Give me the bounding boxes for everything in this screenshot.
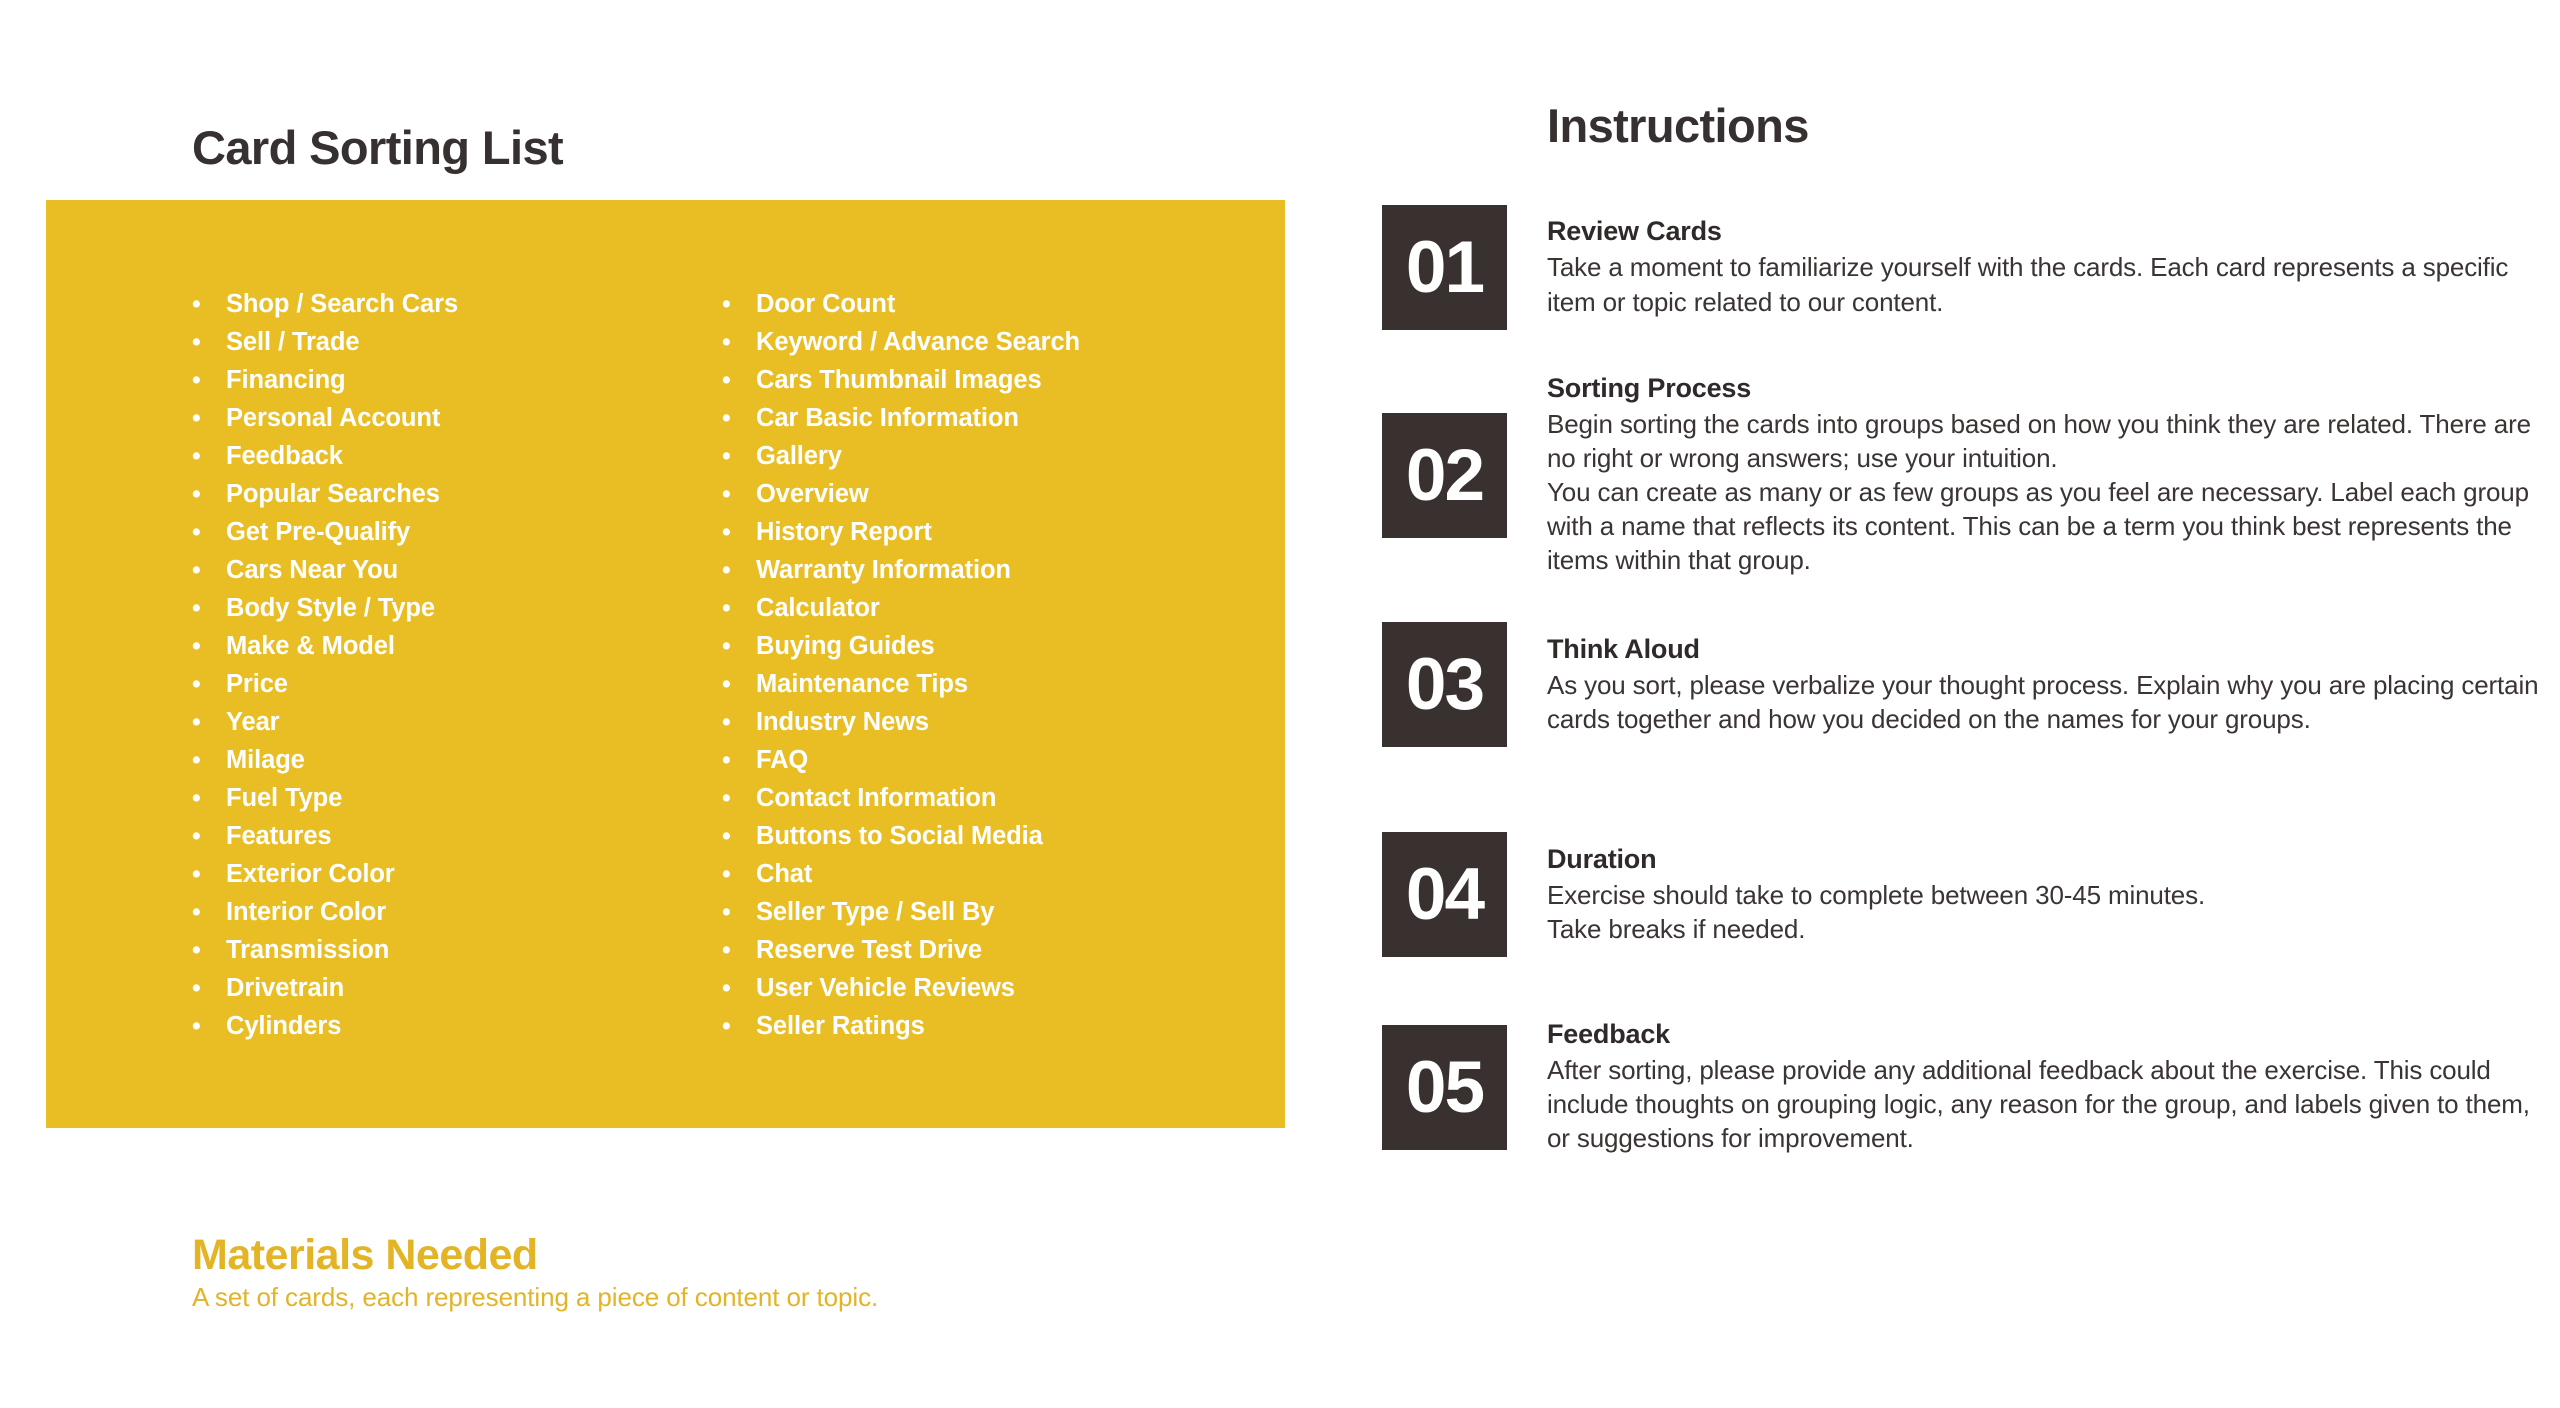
card-label: Feedback [226, 442, 343, 471]
card-label: Financing [226, 366, 346, 395]
step-heading: Feedback [1547, 1019, 2552, 1050]
step-number-badge: 05 [1382, 1025, 1507, 1150]
list-item[interactable]: •Chat [722, 860, 1252, 898]
list-item[interactable]: •Body Style / Type [192, 594, 722, 632]
list-item[interactable]: •Get Pre-Qualify [192, 518, 722, 556]
bullet-icon: • [722, 786, 756, 811]
bullet-icon: • [722, 444, 756, 469]
bullet-icon: • [192, 900, 226, 925]
bullet-icon: • [722, 900, 756, 925]
card-label: Personal Account [226, 404, 440, 433]
step-description: After sorting, please provide any additi… [1547, 1053, 2552, 1155]
bullet-icon: • [192, 558, 226, 583]
bullet-icon: • [192, 710, 226, 735]
instructions-section: Instructions 01 Review Cards Take a mome… [1340, 0, 2560, 1408]
list-item[interactable]: •Cars Near You [192, 556, 722, 594]
step-description: Take a moment to familiarize yourself wi… [1547, 250, 2552, 318]
instructions-title: Instructions [1547, 98, 1809, 153]
list-item[interactable]: •Shop / Search Cars [192, 290, 722, 328]
card-label: Transmission [226, 936, 389, 965]
bullet-icon: • [722, 330, 756, 355]
card-label: Cylinders [226, 1012, 341, 1041]
card-list-column-2: •Door Count •Keyword / Advance Search •C… [722, 290, 1252, 1050]
instruction-steps-list: 01 Review Cards Take a moment to familia… [1382, 205, 2552, 1155]
card-label: Buying Guides [756, 632, 935, 661]
list-item[interactable]: •Seller Type / Sell By [722, 898, 1252, 936]
list-item[interactable]: •Year [192, 708, 722, 746]
card-label: Reserve Test Drive [756, 936, 982, 965]
bullet-icon: • [192, 824, 226, 849]
step-content: Feedback After sorting, please provide a… [1507, 1019, 2552, 1155]
card-label: Warranty Information [756, 556, 1011, 585]
bullet-icon: • [192, 292, 226, 317]
bullet-icon: • [192, 634, 226, 659]
card-label: History Report [756, 518, 932, 547]
card-label: Maintenance Tips [756, 670, 968, 699]
card-label: Seller Ratings [756, 1012, 925, 1041]
step-number-badge: 01 [1382, 205, 1507, 330]
bullet-icon: • [722, 862, 756, 887]
list-item[interactable]: •Buttons to Social Media [722, 822, 1252, 860]
bullet-icon: • [192, 444, 226, 469]
list-item[interactable]: •Features [192, 822, 722, 860]
step-content: Duration Exercise should take to complet… [1507, 844, 2552, 946]
card-label: Body Style / Type [226, 594, 435, 623]
card-label: Cars Thumbnail Images [756, 366, 1042, 395]
bullet-icon: • [192, 938, 226, 963]
step-heading: Duration [1547, 844, 2552, 875]
card-label: Cars Near You [226, 556, 398, 585]
list-item[interactable]: •Reserve Test Drive [722, 936, 1252, 974]
bullet-icon: • [722, 710, 756, 735]
list-item[interactable]: •FAQ [722, 746, 1252, 784]
step-heading: Review Cards [1547, 216, 2552, 247]
list-item[interactable]: •Transmission [192, 936, 722, 974]
card-label: Milage [226, 746, 305, 775]
bullet-icon: • [192, 748, 226, 773]
card-list-right: •Door Count •Keyword / Advance Search •C… [722, 290, 1252, 1050]
list-item[interactable]: •Exterior Color [192, 860, 722, 898]
bullet-icon: • [192, 1014, 226, 1039]
card-label: Features [226, 822, 332, 851]
card-label: Overview [756, 480, 869, 509]
step-content: Review Cards Take a moment to familiariz… [1507, 216, 2552, 318]
card-label: Get Pre-Qualify [226, 518, 410, 547]
list-item[interactable]: •Personal Account [192, 404, 722, 442]
materials-title: Materials Needed [192, 1232, 878, 1278]
bullet-icon: • [722, 558, 756, 583]
bullet-icon: • [722, 634, 756, 659]
card-label: Sell / Trade [226, 328, 359, 357]
bullet-icon: • [192, 976, 226, 1001]
list-item[interactable]: •Cars Thumbnail Images [722, 366, 1252, 404]
card-label: Shop / Search Cars [226, 290, 458, 319]
card-label: Gallery [756, 442, 842, 471]
list-item[interactable]: •Contact Information [722, 784, 1252, 822]
instruction-step: 03 Think Aloud As you sort, please verba… [1382, 622, 2552, 747]
card-label: Exterior Color [226, 860, 395, 889]
card-label: Fuel Type [226, 784, 342, 813]
card-label: Chat [756, 860, 812, 889]
list-item[interactable]: •Milage [192, 746, 722, 784]
card-label: Buttons to Social Media [756, 822, 1043, 851]
list-item[interactable]: •Calculator [722, 594, 1252, 632]
bullet-icon: • [722, 976, 756, 1001]
bullet-icon: • [722, 1014, 756, 1039]
instruction-step: 02 Sorting Process Begin sorting the car… [1382, 373, 2552, 577]
bullet-icon: • [192, 368, 226, 393]
list-item[interactable]: •Price [192, 670, 722, 708]
list-item[interactable]: •User Vehicle Reviews [722, 974, 1252, 1012]
bullet-icon: • [722, 482, 756, 507]
instruction-step: 04 Duration Exercise should take to comp… [1382, 832, 2552, 957]
step-description: Begin sorting the cards into groups base… [1547, 407, 2552, 577]
bullet-icon: • [192, 482, 226, 507]
card-label: Drivetrain [226, 974, 344, 1003]
step-description: As you sort, please verbalize your thoug… [1547, 668, 2552, 736]
bullet-icon: • [722, 292, 756, 317]
card-sorting-section: Card Sorting List •Shop / Search Cars •S… [0, 0, 1340, 1408]
step-content: Sorting Process Begin sorting the cards … [1507, 373, 2552, 577]
card-list-columns: •Shop / Search Cars •Sell / Trade •Finan… [192, 290, 1252, 1050]
list-item[interactable]: •Overview [722, 480, 1252, 518]
card-sorting-poster: Card Sorting List •Shop / Search Cars •S… [0, 0, 2560, 1408]
materials-subtitle: A set of cards, each representing a piec… [192, 1282, 878, 1313]
card-label: Popular Searches [226, 480, 440, 509]
card-label: Calculator [756, 594, 880, 623]
step-heading: Sorting Process [1547, 373, 2552, 404]
bullet-icon: • [192, 406, 226, 431]
card-label: Price [226, 670, 288, 699]
card-label: User Vehicle Reviews [756, 974, 1015, 1003]
list-item[interactable]: •Popular Searches [192, 480, 722, 518]
bullet-icon: • [722, 368, 756, 393]
list-item[interactable]: •Cylinders [192, 1012, 722, 1050]
list-item[interactable]: •Make & Model [192, 632, 722, 670]
card-list-left: •Shop / Search Cars •Sell / Trade •Finan… [192, 290, 722, 1050]
list-item[interactable]: •Interior Color [192, 898, 722, 936]
card-list-panel: •Shop / Search Cars •Sell / Trade •Finan… [46, 200, 1285, 1128]
list-item[interactable]: •History Report [722, 518, 1252, 556]
list-item[interactable]: •Gallery [722, 442, 1252, 480]
card-label: Year [226, 708, 280, 737]
bullet-icon: • [722, 406, 756, 431]
card-label: Interior Color [226, 898, 386, 927]
instruction-step: 05 Feedback After sorting, please provid… [1382, 1019, 2552, 1155]
list-item[interactable]: •Drivetrain [192, 974, 722, 1012]
instruction-step: 01 Review Cards Take a moment to familia… [1382, 205, 2552, 330]
card-label: Seller Type / Sell By [756, 898, 994, 927]
list-item[interactable]: •Keyword / Advance Search [722, 328, 1252, 366]
list-item[interactable]: •Financing [192, 366, 722, 404]
bullet-icon: • [192, 786, 226, 811]
list-item[interactable]: •Buying Guides [722, 632, 1252, 670]
list-item[interactable]: •Car Basic Information [722, 404, 1252, 442]
bullet-icon: • [722, 596, 756, 621]
list-item[interactable]: •Maintenance Tips [722, 670, 1252, 708]
bullet-icon: • [192, 596, 226, 621]
list-item[interactable]: •Warranty Information [722, 556, 1252, 594]
bullet-icon: • [722, 520, 756, 545]
step-number-badge: 03 [1382, 622, 1507, 747]
list-item[interactable]: •Feedback [192, 442, 722, 480]
page-title: Card Sorting List [192, 120, 563, 175]
bullet-icon: • [192, 672, 226, 697]
step-description: Exercise should take to complete between… [1547, 878, 2552, 946]
list-item[interactable]: •Fuel Type [192, 784, 722, 822]
bullet-icon: • [192, 862, 226, 887]
bullet-icon: • [722, 938, 756, 963]
bullet-icon: • [722, 672, 756, 697]
bullet-icon: • [722, 824, 756, 849]
card-label: Make & Model [226, 632, 395, 661]
card-label: Car Basic Information [756, 404, 1019, 433]
step-content: Think Aloud As you sort, please verbaliz… [1507, 634, 2552, 736]
card-label: Industry News [756, 708, 929, 737]
list-item[interactable]: •Door Count [722, 290, 1252, 328]
step-heading: Think Aloud [1547, 634, 2552, 665]
bullet-icon: • [192, 330, 226, 355]
step-number-badge: 02 [1382, 413, 1507, 538]
list-item[interactable]: •Seller Ratings [722, 1012, 1252, 1050]
materials-needed-section: Materials Needed A set of cards, each re… [192, 1232, 878, 1313]
list-item[interactable]: •Sell / Trade [192, 328, 722, 366]
card-label: Keyword / Advance Search [756, 328, 1080, 357]
card-label: FAQ [756, 746, 808, 775]
bullet-icon: • [192, 520, 226, 545]
bullet-icon: • [722, 748, 756, 773]
card-label: Door Count [756, 290, 895, 319]
card-label: Contact Information [756, 784, 996, 813]
list-item[interactable]: •Industry News [722, 708, 1252, 746]
step-number-badge: 04 [1382, 832, 1507, 957]
card-list-column-1: •Shop / Search Cars •Sell / Trade •Finan… [192, 290, 722, 1050]
